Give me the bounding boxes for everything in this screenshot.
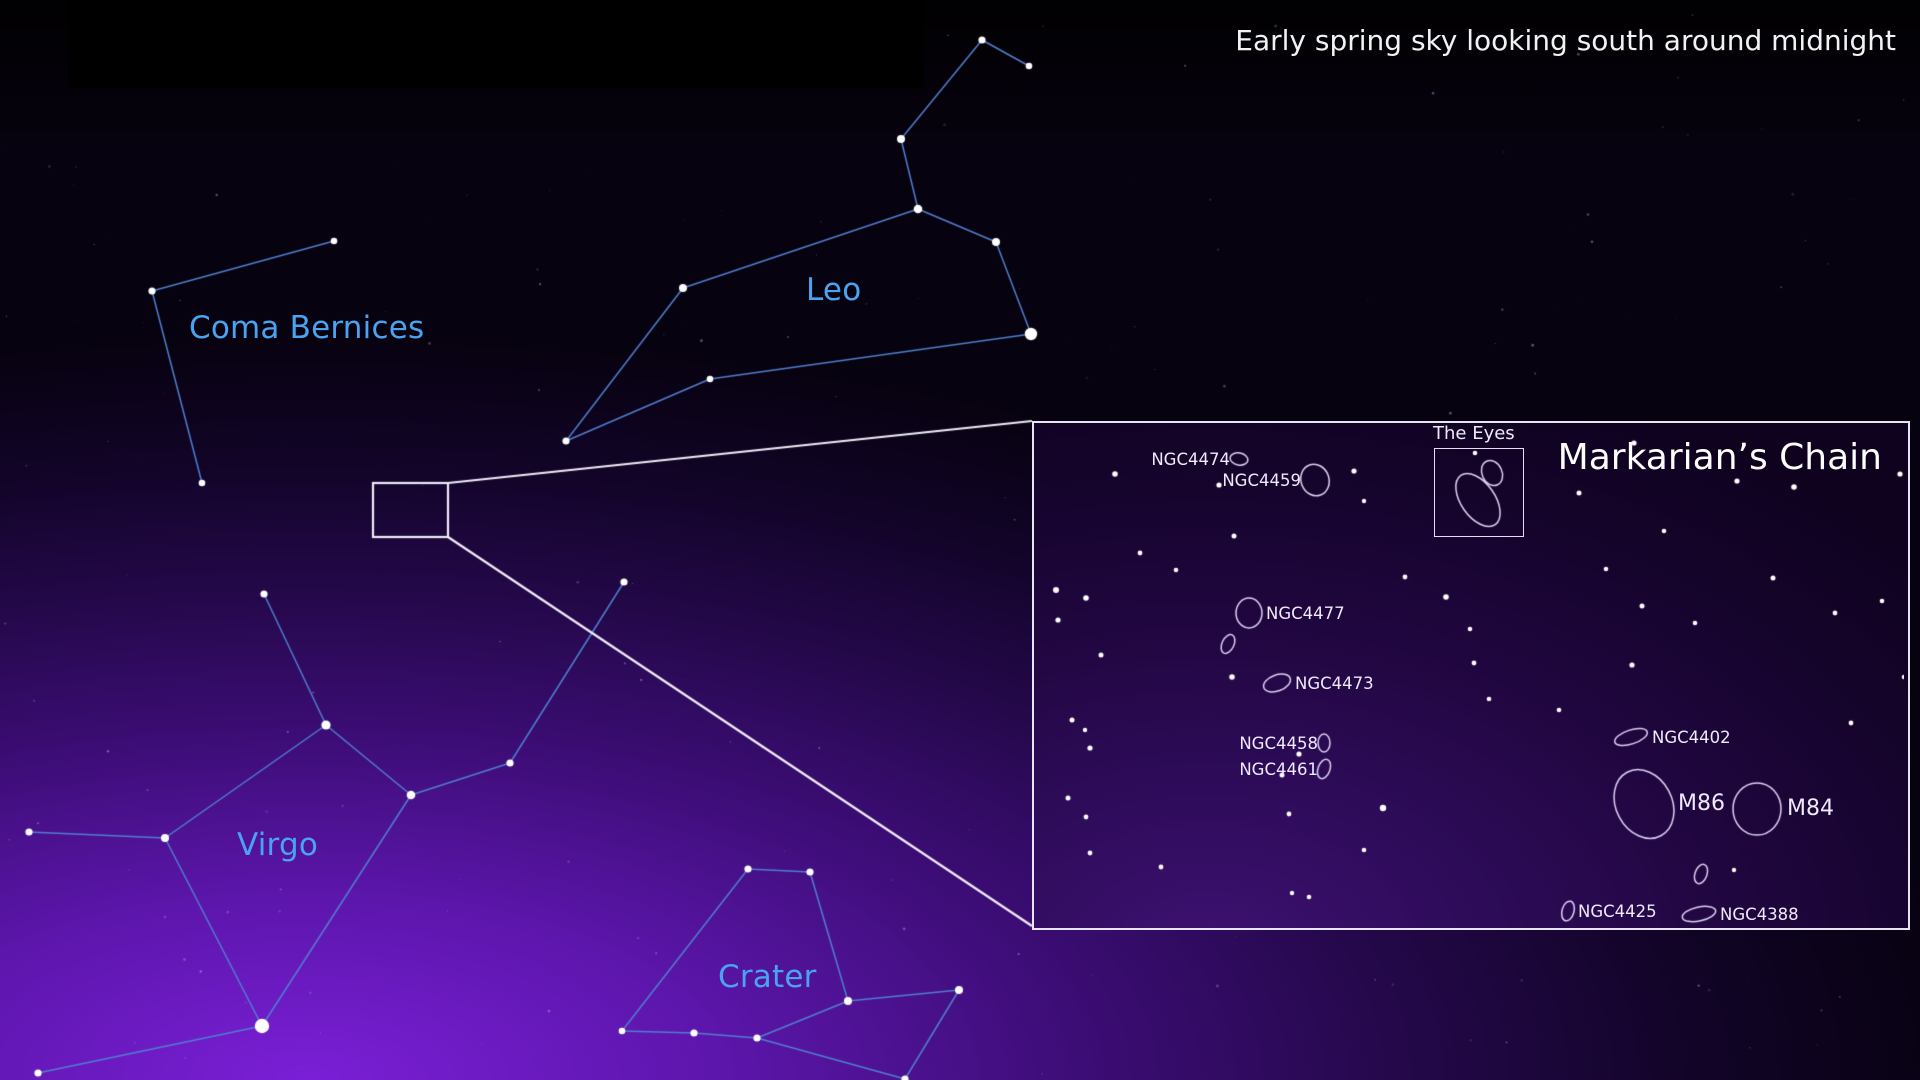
star-chart-canvas: Early spring sky looking south around mi…	[0, 0, 1920, 1080]
galaxy-label-ngc4388: NGC4388	[1720, 905, 1799, 924]
the-eyes-label: The Eyes	[1433, 423, 1515, 444]
galaxy-label-ngc4459: NGC4459	[1222, 471, 1301, 490]
galaxy-label-ngc4473: NGC4473	[1295, 674, 1374, 693]
galaxy-label-ngc4458: NGC4458	[1239, 734, 1318, 753]
page-title: Early spring sky looking south around mi…	[1235, 24, 1896, 57]
galaxy-label-ngc4425: NGC4425	[1578, 902, 1657, 921]
markarians-chain-inset: Markarian’s Chain NGC4474NGC4459NGC4477N…	[1032, 421, 1910, 930]
galaxy-label-ngc4402: NGC4402	[1652, 728, 1731, 747]
galaxy-label-m86: M86	[1678, 791, 1725, 816]
galaxy-label-ngc4477: NGC4477	[1266, 604, 1345, 623]
the-eyes-highlight-box	[1434, 448, 1524, 537]
galaxy-label-m84: M84	[1787, 796, 1834, 821]
galaxy-label-ngc4461: NGC4461	[1239, 760, 1318, 779]
inset-title: Markarian’s Chain	[1558, 437, 1882, 478]
galaxy-label-ngc4474: NGC4474	[1151, 450, 1230, 469]
